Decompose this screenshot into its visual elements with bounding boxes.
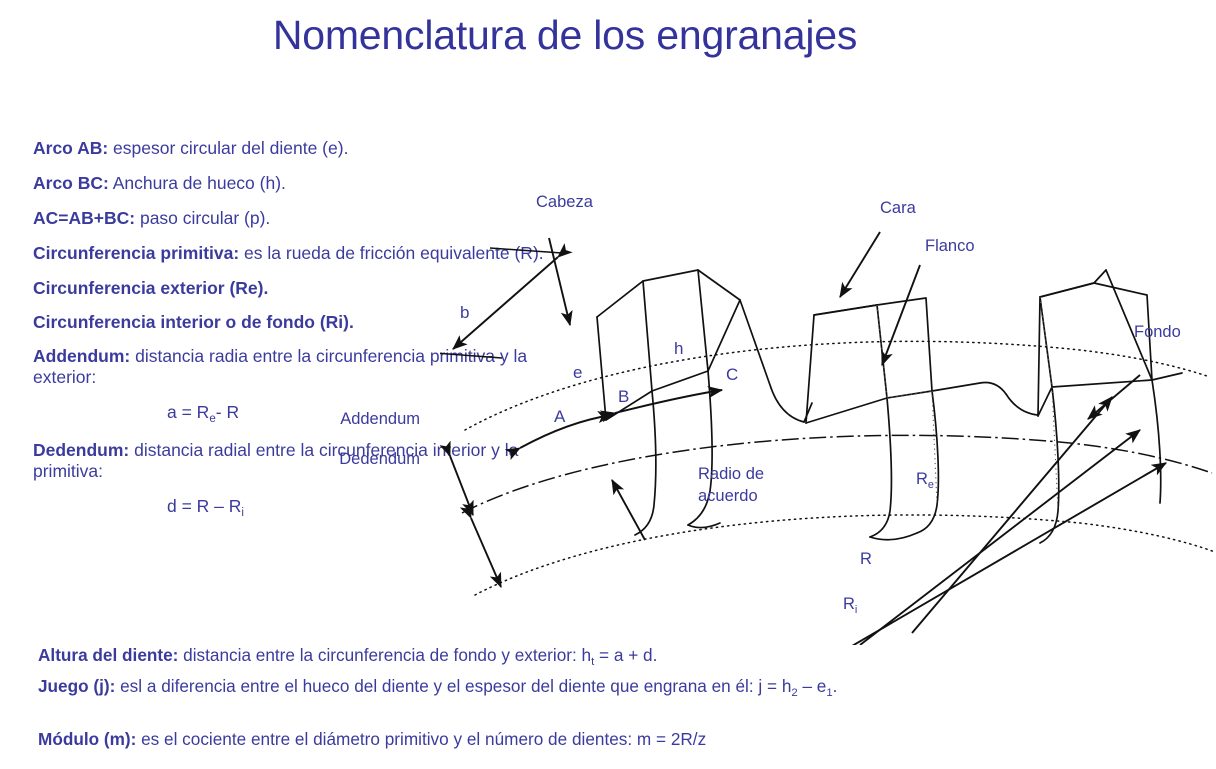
interior-circumference-dotted (475, 515, 1215, 595)
cabeza-leader (549, 238, 570, 325)
tooth-3-top-left-face (1040, 283, 1094, 297)
gear-nomenclature-diagram: Cabeza Cara Flanco Fondo b h e A B C Add… (440, 175, 1216, 645)
definition-text: espesor circular del diente (e). (108, 138, 348, 158)
formula-subscript-2: 1 (826, 687, 832, 699)
label-Ri-subscript: i (855, 604, 857, 616)
page-title: Nomenclatura de los engranajes (0, 12, 1130, 59)
label-flanco: Flanco (925, 237, 975, 256)
label-A: A (554, 407, 565, 426)
definition-text: distancia entre la circunferencia de fon… (178, 645, 591, 665)
tooth-2-mid-left-face (806, 398, 887, 423)
definition-term: Addendum: (33, 346, 130, 366)
definition-term: Altura del diente: (38, 645, 178, 665)
label-radio-de-acuerdo-line2: acuerdo (698, 487, 758, 506)
dedendum-dimension (471, 518, 501, 587)
slide-canvas: Nomenclatura de los engranajes Arco AB: … (0, 0, 1216, 769)
definition-mid: – e (798, 676, 827, 696)
tooth-1-right-flank (740, 300, 804, 422)
label-Re-subscript: e (928, 479, 934, 491)
definition-tail: . (833, 676, 838, 696)
fondo-leader (1088, 375, 1140, 419)
valley-1-fillet (688, 523, 720, 528)
definition-term: Juego (j): (38, 676, 115, 696)
definition-term: Arco BC: (33, 173, 109, 193)
tooth-1-inner-left-edge (643, 281, 652, 391)
label-Re-base: R (916, 470, 928, 488)
flanco-leader (882, 265, 920, 365)
label-cabeza: Cabeza (536, 193, 593, 212)
label-b: b (460, 303, 469, 322)
label-h: h (674, 339, 683, 358)
label-e: e (573, 363, 582, 382)
label-R: R (860, 550, 872, 569)
tooth-1-top-face (597, 270, 740, 317)
label-C: C (726, 365, 738, 384)
tooth-2-front-right-flank (917, 391, 938, 533)
definition-term: Circunferencia interior o de fondo (Ri). (33, 312, 354, 332)
definition-altura-del-diente: Altura del diente: distancia entre la ci… (38, 645, 657, 666)
exterior-circumference-dotted (465, 341, 1210, 430)
definition-tail: = a + d. (594, 645, 657, 665)
label-Ri: Ri (843, 595, 857, 616)
label-addendum: Addendum (40, 410, 420, 429)
label-Re: Re (916, 470, 934, 491)
far-right-top-link (1152, 373, 1182, 380)
e-dimension (520, 415, 612, 448)
label-cara: Cara (880, 199, 916, 218)
definition-term: Módulo (m): (38, 729, 136, 749)
tooth-1-left-edge (597, 317, 606, 420)
b-extension-bottom (440, 353, 502, 358)
definition-term: AC=AB+BC: (33, 208, 135, 228)
label-Ri-base: R (843, 595, 855, 613)
tooth-2-back-face (806, 305, 887, 423)
formula-subscript: t (591, 656, 594, 668)
definition-term: Arco AB: (33, 138, 108, 158)
definition-text: esl a diferencia entre el hueco del dien… (115, 676, 791, 696)
gear-body-outlines (597, 270, 1182, 543)
tooth-3-mid-face (1052, 380, 1152, 387)
radio-de-acuerdo-leader (612, 480, 645, 540)
formula-subscript: i (241, 507, 244, 519)
definition-text: Anchura de hueco (h). (109, 173, 286, 193)
addendum-dimension (450, 456, 473, 515)
definition-juego: Juego (j): esl a diferencia entre el hue… (38, 676, 837, 697)
tooth-3-front-right-flank (1152, 380, 1161, 503)
definition-text: es el cociente entre el diámetro primiti… (136, 729, 706, 749)
tooth-3-lower-left-face (1038, 387, 1052, 416)
definition-text: paso circular (p). (135, 208, 270, 228)
tooth-1-front-left-flank (635, 391, 656, 535)
construction-lines (877, 297, 1058, 511)
label-radio-de-acuerdo-line1: Radio de (698, 465, 764, 484)
tooth-1-right-slope (708, 300, 740, 371)
tooth-2-right-top-link (932, 382, 1006, 394)
definition-term: Circunferencia primitiva: (33, 243, 239, 263)
label-fondo: Fondo (1134, 323, 1181, 342)
definition-modulo: Módulo (m): es el cociente entre el diám… (38, 729, 706, 750)
label-dedendum: Dedendum (40, 450, 420, 469)
tooth-2-top-face (814, 305, 877, 315)
h-dimension (615, 390, 722, 413)
formula-subscript: 2 (791, 687, 797, 699)
tooth-3-front-left-flank (1040, 387, 1059, 543)
tooth-1-lower-top-face (652, 371, 708, 391)
label-B: B (618, 387, 629, 406)
valley-2-right-fillet (1006, 394, 1038, 415)
cara-leader (840, 232, 880, 297)
Ri-arrow (840, 463, 1166, 645)
definition-term: Circunferencia exterior (Re). (33, 278, 268, 298)
definition-arco-ab: Arco AB: espesor circular del diente (e)… (33, 138, 553, 159)
formula-lhs: d = R – R (167, 496, 241, 516)
